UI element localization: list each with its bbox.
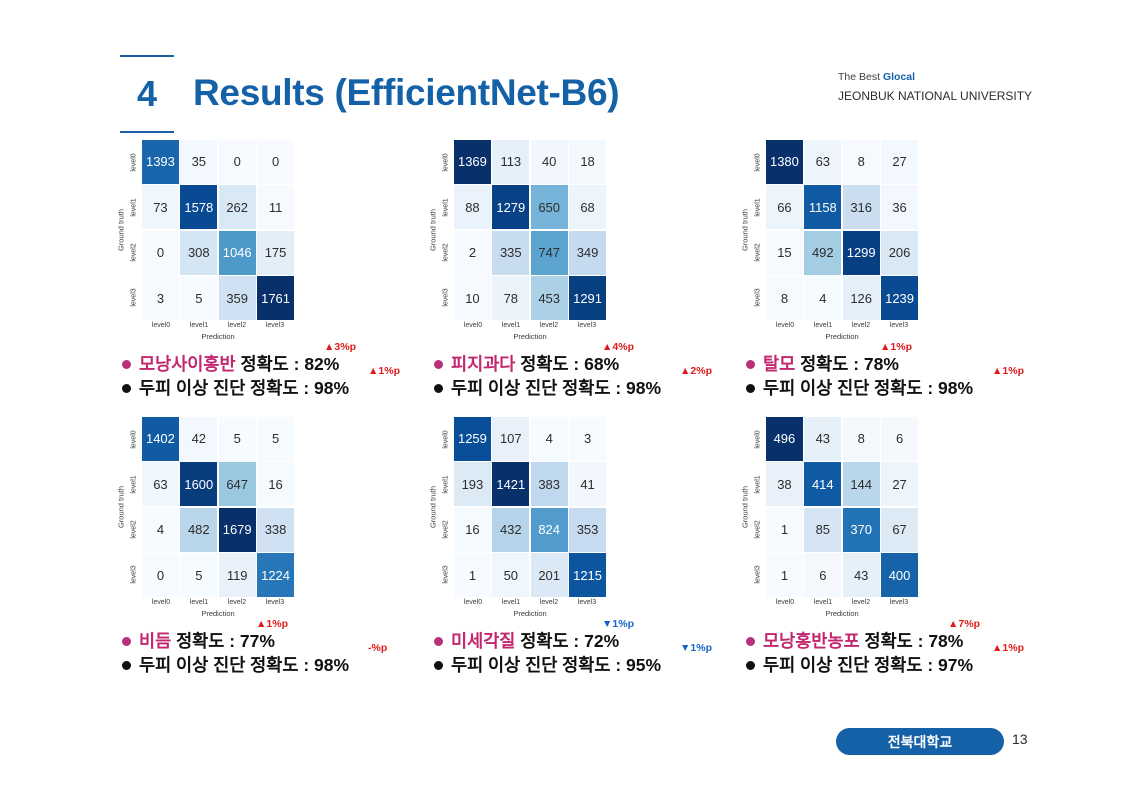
x-axis-ticks: level0level1level2level3 bbox=[766, 599, 918, 606]
x-axis-ticks: level0level1level2level3 bbox=[142, 322, 294, 329]
panel-caption: 피지과다 정확도 : 68%두피 이상 진단 정확도 : 98% bbox=[434, 352, 764, 400]
y-axis-tick: level0 bbox=[752, 417, 765, 462]
confusion-matrix-cell: 4 bbox=[531, 417, 568, 461]
x-axis-label: Prediction bbox=[142, 332, 294, 341]
x-axis-label: Prediction bbox=[766, 332, 918, 341]
caption-text: 두피 이상 진단 정확도 : 98% bbox=[139, 376, 349, 400]
x-axis-tick-label: level1 bbox=[804, 599, 842, 606]
y-axis-tick-label: level2 bbox=[443, 243, 450, 261]
caption-keyword: 피지과다 bbox=[451, 354, 515, 374]
confusion-matrix-cell: 35 bbox=[180, 140, 217, 184]
confusion-matrix-cell: 1679 bbox=[219, 508, 256, 552]
caption-line-overall-accuracy: 두피 이상 진단 정확도 : 98% bbox=[746, 376, 1076, 400]
confusion-matrix-grid: 1369113401888127965068233574734910784531… bbox=[454, 140, 606, 320]
x-axis-tick-label: level3 bbox=[880, 322, 918, 329]
y-axis-tick: level1 bbox=[440, 185, 453, 230]
y-axis-label: Ground truth bbox=[738, 417, 752, 597]
y-axis-ticks: level0level1level2level3 bbox=[440, 140, 453, 320]
bullet-icon bbox=[746, 360, 755, 369]
section-rule-top bbox=[120, 55, 174, 57]
page-title: Results (EfficientNet-B6) bbox=[193, 72, 619, 114]
y-axis-label-text: Ground truth bbox=[429, 486, 438, 528]
y-axis-label-text: Ground truth bbox=[741, 486, 750, 528]
confusion-matrix-cell: 492 bbox=[804, 231, 841, 275]
confusion-matrix-grid: 139335007315782621103081046175353591761 bbox=[142, 140, 294, 320]
confusion-matrix-cell: 68 bbox=[569, 185, 606, 229]
y-axis-tick: level0 bbox=[128, 417, 141, 462]
x-axis-tick-label: level0 bbox=[142, 322, 180, 329]
confusion-matrix-cell: 1259 bbox=[454, 417, 491, 461]
caption-rest: 정확도 : 77% bbox=[171, 631, 275, 651]
confusion-matrix: Ground truthlevel0level1level2level31259… bbox=[430, 417, 630, 622]
confusion-matrix-cell: 3 bbox=[569, 417, 606, 461]
x-axis-tick-label: level0 bbox=[142, 599, 180, 606]
confusion-matrix-cell: 496 bbox=[766, 417, 803, 461]
x-axis-ticks: level0level1level2level3 bbox=[454, 599, 606, 606]
caption-text: 모낭홍반농포 정확도 : 78% bbox=[763, 629, 963, 653]
confusion-matrix-cell: 201 bbox=[531, 553, 568, 597]
confusion-matrix: Ground truthlevel0level1level2level34964… bbox=[742, 417, 942, 622]
result-panel: Ground truthlevel0level1level2level31393… bbox=[118, 140, 448, 345]
confusion-matrix-cell: 2 bbox=[454, 231, 491, 275]
x-axis-tick-label: level0 bbox=[766, 322, 804, 329]
confusion-matrix-grid: 1380638276611583163615492129920684126123… bbox=[766, 140, 918, 320]
y-axis-tick: level3 bbox=[440, 275, 453, 320]
y-axis-tick-label: level1 bbox=[755, 475, 762, 493]
confusion-matrix-cell: 1224 bbox=[257, 553, 294, 597]
x-axis-tick-label: level0 bbox=[454, 599, 492, 606]
y-axis-tick-label: level3 bbox=[755, 565, 762, 583]
y-axis-tick: level3 bbox=[752, 275, 765, 320]
caption-line-disease-accuracy: 피지과다 정확도 : 68% bbox=[434, 352, 764, 376]
result-panel: Ground truthlevel0level1level2level31380… bbox=[742, 140, 1072, 345]
confusion-matrix-cell: 175 bbox=[257, 231, 294, 275]
logo-tagline-accent: Glocal bbox=[883, 71, 915, 83]
delta-badge-overall: ▲1%p bbox=[992, 643, 1024, 654]
y-axis-tick: level1 bbox=[128, 185, 141, 230]
confusion-matrix-cell: 338 bbox=[257, 508, 294, 552]
y-axis-tick-label: level1 bbox=[443, 475, 450, 493]
confusion-matrix-cell: 43 bbox=[843, 553, 880, 597]
y-axis-tick: level0 bbox=[440, 140, 453, 185]
x-axis-tick-label: level3 bbox=[568, 599, 606, 606]
caption-text: 두피 이상 진단 정확도 : 95% bbox=[451, 653, 661, 677]
confusion-matrix-cell: 41 bbox=[569, 462, 606, 506]
y-axis-tick: level0 bbox=[752, 140, 765, 185]
x-axis-tick-label: level1 bbox=[492, 599, 530, 606]
caption-text: 두피 이상 진단 정확도 : 97% bbox=[763, 653, 973, 677]
bullet-icon bbox=[122, 661, 131, 670]
y-axis-tick-label: level1 bbox=[131, 198, 138, 216]
delta-badge-disease: ▲1%p bbox=[880, 342, 912, 353]
bullet-icon bbox=[434, 637, 443, 646]
section-number-block: 4 bbox=[120, 55, 174, 133]
x-axis-tick-label: level2 bbox=[218, 322, 256, 329]
confusion-matrix-cell: 383 bbox=[531, 462, 568, 506]
confusion-matrix-cell: 38 bbox=[766, 462, 803, 506]
confusion-matrix-cell: 370 bbox=[843, 508, 880, 552]
panel-caption: 비듬 정확도 : 77%두피 이상 진단 정확도 : 98% bbox=[122, 629, 452, 677]
confusion-matrix-cell: 1369 bbox=[454, 140, 491, 184]
confusion-matrix-cell: 400 bbox=[881, 553, 918, 597]
bullet-icon bbox=[434, 384, 443, 393]
caption-line-overall-accuracy: 두피 이상 진단 정확도 : 97% bbox=[746, 653, 1076, 677]
y-axis-tick: level2 bbox=[752, 507, 765, 552]
panel-caption: 모낭사이홍반 정확도 : 82%두피 이상 진단 정확도 : 98% bbox=[122, 352, 452, 400]
confusion-matrix-cell: 11 bbox=[257, 185, 294, 229]
panel-caption: 모낭홍반농포 정확도 : 78%두피 이상 진단 정확도 : 97% bbox=[746, 629, 1076, 677]
y-axis-label: Ground truth bbox=[738, 140, 752, 320]
caption-keyword: 모낭사이홍반 bbox=[139, 354, 236, 374]
confusion-matrix-cell: 482 bbox=[180, 508, 217, 552]
confusion-matrix-cell: 453 bbox=[531, 276, 568, 320]
delta-badge-disease: ▲4%p bbox=[602, 342, 634, 353]
confusion-matrix-cell: 650 bbox=[531, 185, 568, 229]
confusion-matrix-cell: 0 bbox=[257, 140, 294, 184]
logo-tagline-prefix: The Best bbox=[838, 71, 883, 83]
caption-rest: 정확도 : 78% bbox=[860, 631, 964, 651]
confusion-matrix-cell: 1 bbox=[766, 553, 803, 597]
result-panel: Ground truthlevel0level1level2level31402… bbox=[118, 417, 448, 622]
confusion-matrix-cell: 359 bbox=[219, 276, 256, 320]
y-axis-tick-label: level0 bbox=[131, 153, 138, 171]
confusion-matrix-cell: 335 bbox=[492, 231, 529, 275]
caption-keyword: 탈모 bbox=[763, 354, 795, 374]
confusion-matrix-cell: 4 bbox=[804, 276, 841, 320]
result-panel: Ground truthlevel0level1level2level31259… bbox=[430, 417, 760, 622]
y-axis-tick: level1 bbox=[752, 462, 765, 507]
confusion-matrix-cell: 126 bbox=[843, 276, 880, 320]
x-axis-label: Prediction bbox=[454, 332, 606, 341]
y-axis-tick-label: level2 bbox=[755, 520, 762, 538]
x-axis-tick-label: level0 bbox=[766, 599, 804, 606]
y-axis-tick-label: level1 bbox=[443, 198, 450, 216]
y-axis-label: Ground truth bbox=[114, 140, 128, 320]
confusion-matrix-cell: 1291 bbox=[569, 276, 606, 320]
slide-footer: 전북대학교 13 bbox=[0, 728, 1121, 763]
bullet-icon bbox=[122, 637, 131, 646]
confusion-matrix: Ground truthlevel0level1level2level31393… bbox=[118, 140, 318, 345]
confusion-matrix-cell: 353 bbox=[569, 508, 606, 552]
confusion-matrix-cell: 85 bbox=[804, 508, 841, 552]
university-logo: The Best Glocal JEONBUK NATIONAL UNIVERS… bbox=[838, 70, 1078, 105]
y-axis-tick: level1 bbox=[752, 185, 765, 230]
panel-caption: 미세각질 정확도 : 72%두피 이상 진단 정확도 : 95% bbox=[434, 629, 764, 677]
x-axis-tick-label: level2 bbox=[842, 599, 880, 606]
confusion-matrix-cell: 6 bbox=[881, 417, 918, 461]
bullet-icon bbox=[122, 360, 131, 369]
confusion-matrix-cell: 73 bbox=[142, 185, 179, 229]
confusion-matrix-cell: 316 bbox=[843, 185, 880, 229]
confusion-matrix-cell: 1299 bbox=[843, 231, 880, 275]
confusion-matrix-cell: 824 bbox=[531, 508, 568, 552]
y-axis-label: Ground truth bbox=[114, 417, 128, 597]
y-axis-tick: level2 bbox=[440, 230, 453, 275]
bullet-icon bbox=[746, 637, 755, 646]
y-axis-label: Ground truth bbox=[426, 140, 440, 320]
x-axis-label: Prediction bbox=[454, 609, 606, 618]
confusion-matrix-cell: 113 bbox=[492, 140, 529, 184]
y-axis-tick-label: level0 bbox=[131, 430, 138, 448]
bullet-icon bbox=[746, 384, 755, 393]
confusion-matrix-cell: 3 bbox=[142, 276, 179, 320]
y-axis-tick-label: level0 bbox=[443, 430, 450, 448]
x-axis-tick-label: level1 bbox=[180, 322, 218, 329]
x-axis-tick-label: level2 bbox=[842, 322, 880, 329]
y-axis-tick: level3 bbox=[128, 275, 141, 320]
confusion-matrix-cell: 747 bbox=[531, 231, 568, 275]
footer-organization-badge: 전북대학교 bbox=[836, 728, 1004, 755]
caption-text: 탈모 정확도 : 78% bbox=[763, 352, 899, 376]
confusion-matrix-cell: 15 bbox=[766, 231, 803, 275]
delta-badge-disease: ▲7%p bbox=[948, 619, 980, 630]
caption-line-disease-accuracy: 미세각질 정확도 : 72% bbox=[434, 629, 764, 653]
confusion-matrix-cell: 0 bbox=[219, 140, 256, 184]
y-axis-tick: level3 bbox=[440, 552, 453, 597]
caption-rest: 정확도 : 82% bbox=[236, 354, 340, 374]
bullet-icon bbox=[122, 384, 131, 393]
confusion-matrix-cell: 8 bbox=[843, 140, 880, 184]
caption-keyword: 미세각질 bbox=[451, 631, 515, 651]
bullet-icon bbox=[434, 661, 443, 670]
x-axis-tick-label: level1 bbox=[804, 322, 842, 329]
x-axis-tick-label: level3 bbox=[256, 322, 294, 329]
confusion-matrix-cell: 4 bbox=[142, 508, 179, 552]
confusion-matrix-cell: 63 bbox=[804, 140, 841, 184]
confusion-matrix-cell: 5 bbox=[180, 276, 217, 320]
confusion-matrix-cell: 1215 bbox=[569, 553, 606, 597]
x-axis-tick-label: level1 bbox=[180, 599, 218, 606]
confusion-matrix-cell: 50 bbox=[492, 553, 529, 597]
confusion-matrix-cell: 36 bbox=[881, 185, 918, 229]
caption-text: 모낭사이홍반 정확도 : 82% bbox=[139, 352, 339, 376]
confusion-matrix-cell: 67 bbox=[881, 508, 918, 552]
confusion-matrix-cell: 42 bbox=[180, 417, 217, 461]
y-axis-label-text: Ground truth bbox=[117, 486, 126, 528]
confusion-matrix-cell: 262 bbox=[219, 185, 256, 229]
confusion-matrix-cell: 206 bbox=[881, 231, 918, 275]
x-axis-ticks: level0level1level2level3 bbox=[454, 322, 606, 329]
x-axis-ticks: level0level1level2level3 bbox=[142, 599, 294, 606]
y-axis-tick-label: level0 bbox=[755, 153, 762, 171]
y-axis-tick: level1 bbox=[440, 462, 453, 507]
confusion-matrix-cell: 16 bbox=[454, 508, 491, 552]
y-axis-tick: level1 bbox=[128, 462, 141, 507]
confusion-matrix-cell: 63 bbox=[142, 462, 179, 506]
caption-rest: 정확도 : 78% bbox=[795, 354, 899, 374]
y-axis-tick: level2 bbox=[128, 507, 141, 552]
y-axis-tick: level2 bbox=[128, 230, 141, 275]
confusion-matrix-cell: 144 bbox=[843, 462, 880, 506]
logo-tagline: The Best Glocal bbox=[838, 70, 1078, 86]
y-axis-label-text: Ground truth bbox=[117, 209, 126, 251]
confusion-matrix-cell: 5 bbox=[219, 417, 256, 461]
y-axis-tick: level0 bbox=[128, 140, 141, 185]
y-axis-tick-label: level1 bbox=[131, 475, 138, 493]
delta-badge-overall: ▲2%p bbox=[680, 366, 712, 377]
confusion-matrix-cell: 1761 bbox=[257, 276, 294, 320]
confusion-matrix-cell: 5 bbox=[257, 417, 294, 461]
confusion-matrix-cell: 27 bbox=[881, 462, 918, 506]
x-axis-tick-label: level2 bbox=[530, 322, 568, 329]
caption-rest: 정확도 : 68% bbox=[515, 354, 619, 374]
page-number: 13 bbox=[1012, 731, 1028, 747]
confusion-matrix-cell: 1402 bbox=[142, 417, 179, 461]
caption-line-disease-accuracy: 비듬 정확도 : 77% bbox=[122, 629, 452, 653]
x-axis-ticks: level0level1level2level3 bbox=[766, 322, 918, 329]
x-axis-label: Prediction bbox=[142, 609, 294, 618]
confusion-matrix-cell: 1046 bbox=[219, 231, 256, 275]
y-axis-tick-label: level3 bbox=[443, 288, 450, 306]
y-axis-ticks: level0level1level2level3 bbox=[128, 140, 141, 320]
section-rule-bottom bbox=[120, 131, 174, 133]
y-axis-tick-label: level1 bbox=[755, 198, 762, 216]
delta-badge-overall: ▲1%p bbox=[992, 366, 1024, 377]
confusion-matrix-cell: 8 bbox=[843, 417, 880, 461]
y-axis-label-text: Ground truth bbox=[429, 209, 438, 251]
caption-keyword: 모낭홍반농포 bbox=[763, 631, 860, 651]
caption-rest: 정확도 : 72% bbox=[515, 631, 619, 651]
confusion-matrix-cell: 1 bbox=[766, 508, 803, 552]
y-axis-tick-label: level3 bbox=[131, 565, 138, 583]
confusion-matrix: Ground truthlevel0level1level2level31402… bbox=[118, 417, 318, 622]
caption-text: 비듬 정확도 : 77% bbox=[139, 629, 275, 653]
y-axis-label-text: Ground truth bbox=[741, 209, 750, 251]
y-axis-label: Ground truth bbox=[426, 417, 440, 597]
delta-badge-overall: -%p bbox=[368, 643, 387, 654]
bullet-icon bbox=[746, 661, 755, 670]
confusion-matrix-cell: 43 bbox=[804, 417, 841, 461]
y-axis-tick-label: level3 bbox=[131, 288, 138, 306]
caption-line-disease-accuracy: 모낭홍반농포 정확도 : 78% bbox=[746, 629, 1076, 653]
bullet-icon bbox=[434, 360, 443, 369]
caption-text: 두피 이상 진단 정확도 : 98% bbox=[451, 376, 661, 400]
panel-caption: 탈모 정확도 : 78%두피 이상 진단 정확도 : 98% bbox=[746, 352, 1076, 400]
confusion-matrix-grid: 140242556316006471644821679338051191224 bbox=[142, 417, 294, 597]
confusion-matrix-cell: 1279 bbox=[492, 185, 529, 229]
confusion-matrix-cell: 193 bbox=[454, 462, 491, 506]
confusion-matrix-cell: 1393 bbox=[142, 140, 179, 184]
confusion-matrix-cell: 308 bbox=[180, 231, 217, 275]
confusion-matrix-cell: 1600 bbox=[180, 462, 217, 506]
result-panel: Ground truthlevel0level1level2level31369… bbox=[430, 140, 760, 345]
x-axis-tick-label: level2 bbox=[218, 599, 256, 606]
y-axis-tick-label: level3 bbox=[755, 288, 762, 306]
x-axis-tick-label: level1 bbox=[492, 322, 530, 329]
y-axis-ticks: level0level1level2level3 bbox=[440, 417, 453, 597]
confusion-matrix-cell: 5 bbox=[180, 553, 217, 597]
confusion-matrix-cell: 1239 bbox=[881, 276, 918, 320]
caption-line-disease-accuracy: 탈모 정확도 : 78% bbox=[746, 352, 1076, 376]
caption-text: 두피 이상 진단 정확도 : 98% bbox=[763, 376, 973, 400]
confusion-matrix-cell: 88 bbox=[454, 185, 491, 229]
y-axis-tick-label: level2 bbox=[131, 520, 138, 538]
y-axis-ticks: level0level1level2level3 bbox=[752, 140, 765, 320]
caption-line-overall-accuracy: 두피 이상 진단 정확도 : 98% bbox=[122, 376, 452, 400]
x-axis-tick-label: level3 bbox=[880, 599, 918, 606]
section-number: 4 bbox=[120, 76, 174, 112]
confusion-matrix-cell: 0 bbox=[142, 231, 179, 275]
y-axis-tick: level3 bbox=[128, 552, 141, 597]
confusion-matrix-cell: 8 bbox=[766, 276, 803, 320]
confusion-matrix-cell: 107 bbox=[492, 417, 529, 461]
confusion-matrix-cell: 0 bbox=[142, 553, 179, 597]
caption-line-overall-accuracy: 두피 이상 진단 정확도 : 95% bbox=[434, 653, 764, 677]
result-panel: Ground truthlevel0level1level2level34964… bbox=[742, 417, 1072, 622]
y-axis-tick-label: level0 bbox=[755, 430, 762, 448]
confusion-matrix-cell: 27 bbox=[881, 140, 918, 184]
confusion-matrix-grid: 1259107431931421383411643282435315020112… bbox=[454, 417, 606, 597]
confusion-matrix-cell: 432 bbox=[492, 508, 529, 552]
caption-line-overall-accuracy: 두피 이상 진단 정확도 : 98% bbox=[434, 376, 764, 400]
y-axis-tick: level3 bbox=[752, 552, 765, 597]
confusion-matrix-cell: 1421 bbox=[492, 462, 529, 506]
confusion-matrix-cell: 1578 bbox=[180, 185, 217, 229]
confusion-matrix-cell: 16 bbox=[257, 462, 294, 506]
delta-badge-disease: ▲1%p bbox=[256, 619, 288, 630]
y-axis-tick-label: level3 bbox=[443, 565, 450, 583]
y-axis-tick: level2 bbox=[752, 230, 765, 275]
confusion-matrix-cell: 18 bbox=[569, 140, 606, 184]
caption-text: 미세각질 정확도 : 72% bbox=[451, 629, 619, 653]
slide-header: 4 Results (EfficientNet-B6) The Best Glo… bbox=[0, 0, 1121, 135]
y-axis-tick: level0 bbox=[440, 417, 453, 462]
y-axis-ticks: level0level1level2level3 bbox=[128, 417, 141, 597]
delta-badge-overall: ▼1%p bbox=[680, 643, 712, 654]
delta-badge-disease: ▲3%p bbox=[324, 342, 356, 353]
confusion-matrix-grid: 49643863841414427185370671643400 bbox=[766, 417, 918, 597]
confusion-matrix-cell: 40 bbox=[531, 140, 568, 184]
caption-line-overall-accuracy: 두피 이상 진단 정확도 : 98% bbox=[122, 653, 452, 677]
confusion-matrix-cell: 66 bbox=[766, 185, 803, 229]
x-axis-label: Prediction bbox=[766, 609, 918, 618]
delta-badge-disease: ▼1%p bbox=[602, 619, 634, 630]
confusion-matrix: Ground truthlevel0level1level2level31380… bbox=[742, 140, 942, 345]
confusion-matrix-cell: 1 bbox=[454, 553, 491, 597]
caption-line-disease-accuracy: 모낭사이홍반 정확도 : 82% bbox=[122, 352, 452, 376]
confusion-matrix-cell: 6 bbox=[804, 553, 841, 597]
confusion-matrix-cell: 78 bbox=[492, 276, 529, 320]
y-axis-tick-label: level2 bbox=[131, 243, 138, 261]
caption-keyword: 비듬 bbox=[139, 631, 171, 651]
caption-text: 피지과다 정확도 : 68% bbox=[451, 352, 619, 376]
confusion-matrix-cell: 414 bbox=[804, 462, 841, 506]
y-axis-tick-label: level0 bbox=[443, 153, 450, 171]
confusion-matrix-cell: 647 bbox=[219, 462, 256, 506]
delta-badge-overall: ▲1%p bbox=[368, 366, 400, 377]
confusion-matrix-cell: 349 bbox=[569, 231, 606, 275]
y-axis-tick-label: level2 bbox=[443, 520, 450, 538]
x-axis-tick-label: level3 bbox=[256, 599, 294, 606]
confusion-matrix-cell: 1380 bbox=[766, 140, 803, 184]
y-axis-ticks: level0level1level2level3 bbox=[752, 417, 765, 597]
logo-university-name: JEONBUK NATIONAL UNIVERSITY bbox=[838, 87, 1078, 105]
confusion-matrix: Ground truthlevel0level1level2level31369… bbox=[430, 140, 630, 345]
y-axis-tick-label: level2 bbox=[755, 243, 762, 261]
caption-text: 두피 이상 진단 정확도 : 98% bbox=[139, 653, 349, 677]
confusion-matrix-cell: 119 bbox=[219, 553, 256, 597]
x-axis-tick-label: level2 bbox=[530, 599, 568, 606]
y-axis-tick: level2 bbox=[440, 507, 453, 552]
x-axis-tick-label: level3 bbox=[568, 322, 606, 329]
confusion-matrix-cell: 10 bbox=[454, 276, 491, 320]
confusion-matrix-cell: 1158 bbox=[804, 185, 841, 229]
x-axis-tick-label: level0 bbox=[454, 322, 492, 329]
